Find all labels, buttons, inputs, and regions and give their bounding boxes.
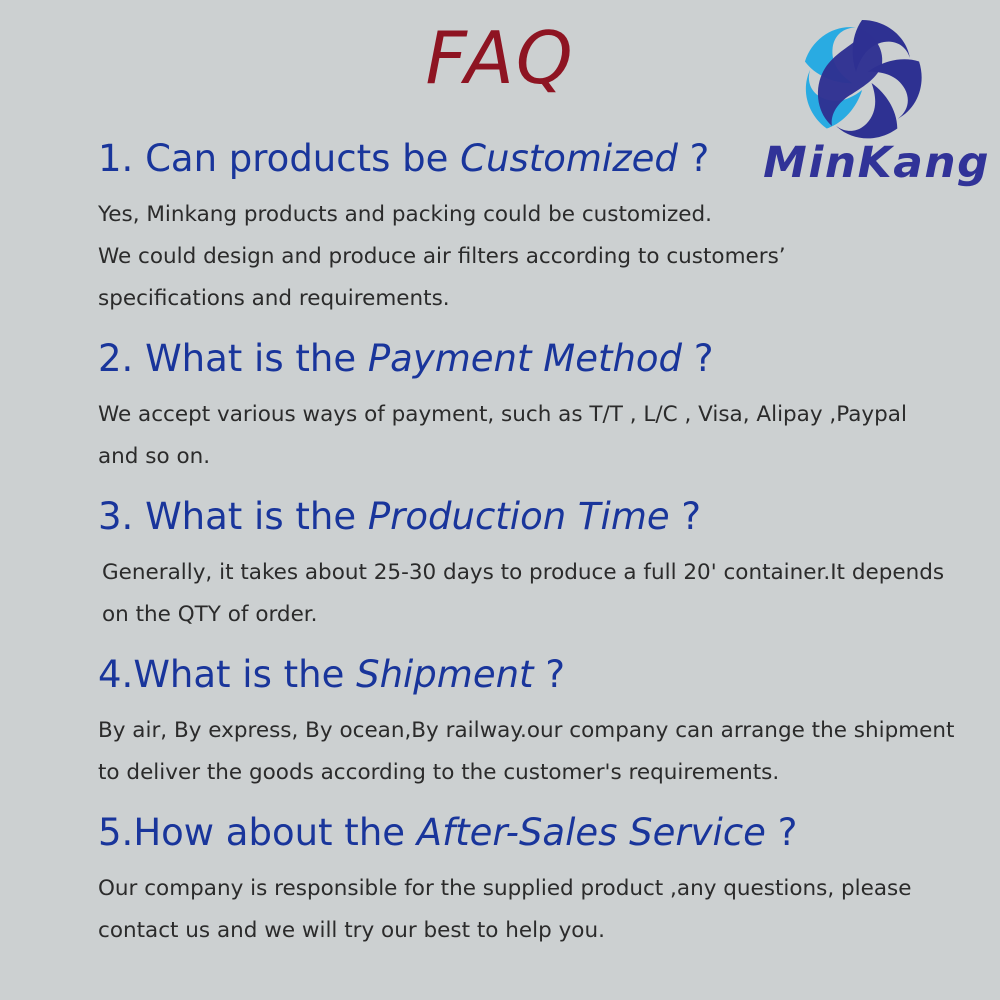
faq-answer-line: on the QTY of order. [102,594,982,636]
faq-answer: We accept various ways of payment, such … [0,390,978,486]
faq-answer: By air, By express, By ocean,By railway.… [0,706,978,802]
faq-question-number: 4. [98,653,133,696]
faq-question-emphasis: Shipment [356,653,533,696]
faq-question-prefix: How about the [133,811,405,854]
faq-answer-line: Generally, it takes about 25-30 days to … [102,552,982,594]
faq-question: 3. What is the Production Time ? [0,486,1000,548]
faq-item: 4.What is the Shipment ? By air, By expr… [0,644,1000,802]
faq-question-prefix: What is the [133,653,344,696]
faq-item: 1. Can products be Customized ? Yes, Min… [0,128,1000,328]
faq-item: 2. What is the Payment Method ? We accep… [0,328,1000,486]
faq-question-prefix: Can products be [145,137,448,180]
faq-question-number: 5. [98,811,133,854]
faq-answer-line: By air, By express, By ocean,By railway.… [98,710,978,752]
faq-answer-line: to deliver the goods according to the cu… [98,752,978,794]
faq-question-emphasis: After-Sales Service [417,811,766,854]
faq-answer-line: We accept various ways of payment, such … [98,394,978,436]
faq-question-suffix: ? [694,337,714,380]
faq-question-emphasis: Payment Method [368,337,682,380]
faq-question-prefix: What is the [145,337,356,380]
faq-question-number: 3. [98,495,133,538]
faq-item: 3. What is the Production Time ? General… [0,486,1000,644]
faq-question-suffix: ? [681,495,701,538]
faq-question: 1. Can products be Customized ? [0,128,1000,190]
faq-question-emphasis: Production Time [368,495,670,538]
faq-question-number: 2. [98,337,133,380]
page-header: FAQ MinKang [0,0,1000,128]
faq-answer-line: Yes, Minkang products and packing could … [98,194,978,236]
faq-question-emphasis: Customized [460,137,678,180]
faq-answer: Generally, it takes about 25-30 days to … [0,548,982,644]
faq-answer: Yes, Minkang products and packing could … [0,190,978,328]
faq-item: 5.How about the After-Sales Service ? Ou… [0,802,1000,960]
faq-answer: Our company is responsible for the suppl… [0,864,978,960]
faq-answer-line: Our company is responsible for the suppl… [98,868,978,910]
faq-question-suffix: ? [545,653,565,696]
faq-answer-line: specifications and requirements. [98,278,978,320]
faq-question-number: 1. [98,137,133,180]
faq-page: { "page": { "background_color": "#ccd0d1… [0,0,1000,1000]
faq-question: 5.How about the After-Sales Service ? [0,802,1000,864]
faq-question-suffix: ? [690,137,710,180]
faq-question-suffix: ? [778,811,798,854]
faq-question: 2. What is the Payment Method ? [0,328,1000,390]
faq-question-prefix: What is the [145,495,356,538]
faq-answer-line: We could design and produce air filters … [98,236,978,278]
faq-list: 1. Can products be Customized ? Yes, Min… [0,128,1000,960]
faq-answer-line: and so on. [98,436,978,478]
faq-answer-line: contact us and we will try our best to h… [98,910,978,952]
faq-question: 4.What is the Shipment ? [0,644,1000,706]
